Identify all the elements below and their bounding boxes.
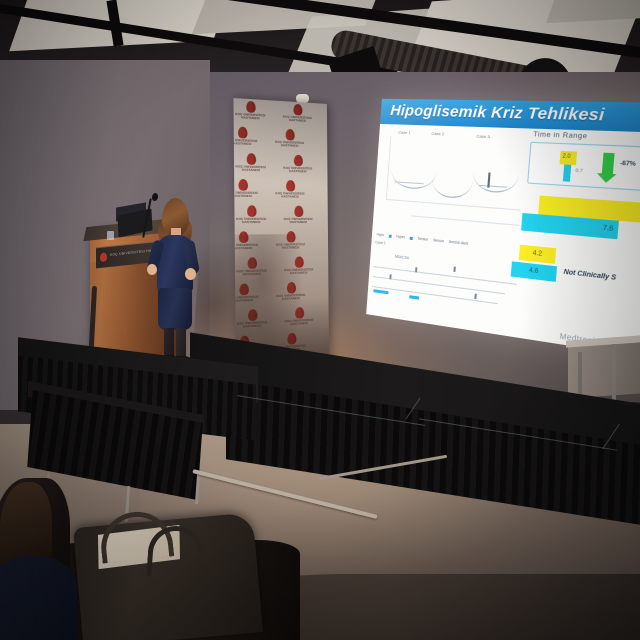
presenter-right-hand: [185, 268, 196, 280]
water-glass: [107, 231, 114, 240]
chart-axis: [411, 215, 519, 226]
bar-yellow-2: 4.2: [519, 245, 556, 264]
tir-bar-cyan: [563, 165, 571, 182]
timeline-marker: [415, 267, 417, 272]
timeline-row: [373, 276, 505, 294]
chart-axis: [386, 136, 392, 199]
lower-chart-sublabel: MDI/CSII: [395, 255, 409, 261]
legend-item: Sensor: [433, 238, 444, 243]
conference-room-photo: KOÇ ÜNİVERSİTESİHASTANESİKOÇ ÜNİVERSİTES…: [0, 0, 640, 640]
chart-axis: [386, 199, 521, 211]
tir-value-cyan: 0.7: [575, 167, 583, 173]
timeline-marker: [453, 267, 455, 272]
legend-item: Sensor: [417, 237, 428, 242]
tir-value-yellow: 2.0: [562, 153, 571, 160]
chart-annotation: Not Clinically S: [563, 269, 616, 282]
presenter-right-leg: [176, 328, 186, 358]
timeline-bar: [373, 289, 388, 294]
presenter-skirt: [158, 288, 192, 330]
glucose-trace-charts: Case 1 Case 2 Case 3: [378, 128, 540, 243]
legend-swatch-icon: [389, 234, 392, 237]
hospital-logo-icon: [100, 252, 107, 262]
legend-swatch-icon: [410, 236, 413, 239]
presenter-left-hand: [147, 264, 157, 275]
presenter-left-leg: [164, 328, 174, 358]
tir-change-value: -67%: [620, 160, 636, 168]
chart-label: Case 2: [431, 131, 444, 137]
bar-cyan-2: 4.6: [511, 261, 557, 282]
lower-chart-label: Case 1: [375, 240, 386, 245]
time-in-range-box: 2.0 0.7 -67%: [527, 142, 640, 192]
timeline-marker: [474, 294, 477, 300]
legend-item: Sensor Alert: [449, 240, 468, 246]
chart-label: Case 3: [476, 133, 490, 139]
chart-label: Case 1: [398, 130, 411, 136]
glucose-curve: [472, 155, 520, 194]
projection-screen: Hipoglisemik Kriz Tehlikesi Case 1 Case …: [366, 99, 640, 359]
timeline-bar: [409, 295, 419, 299]
legend-item: Hypo: [377, 232, 385, 237]
time-in-range-label: Time in Range: [533, 131, 588, 141]
timeline-row: [373, 266, 516, 285]
glucose-curve: [431, 161, 475, 199]
foreground-audience-shoulder: [0, 556, 78, 640]
legend-item: Hyper: [396, 234, 405, 239]
timeline-row: [372, 286, 498, 304]
presentation-slide: Hipoglisemik Kriz Tehlikesi Case 1 Case …: [366, 99, 640, 359]
down-arrow-icon: [602, 153, 615, 174]
glucose-curve: [390, 153, 437, 191]
timeline-marker: [389, 274, 391, 279]
